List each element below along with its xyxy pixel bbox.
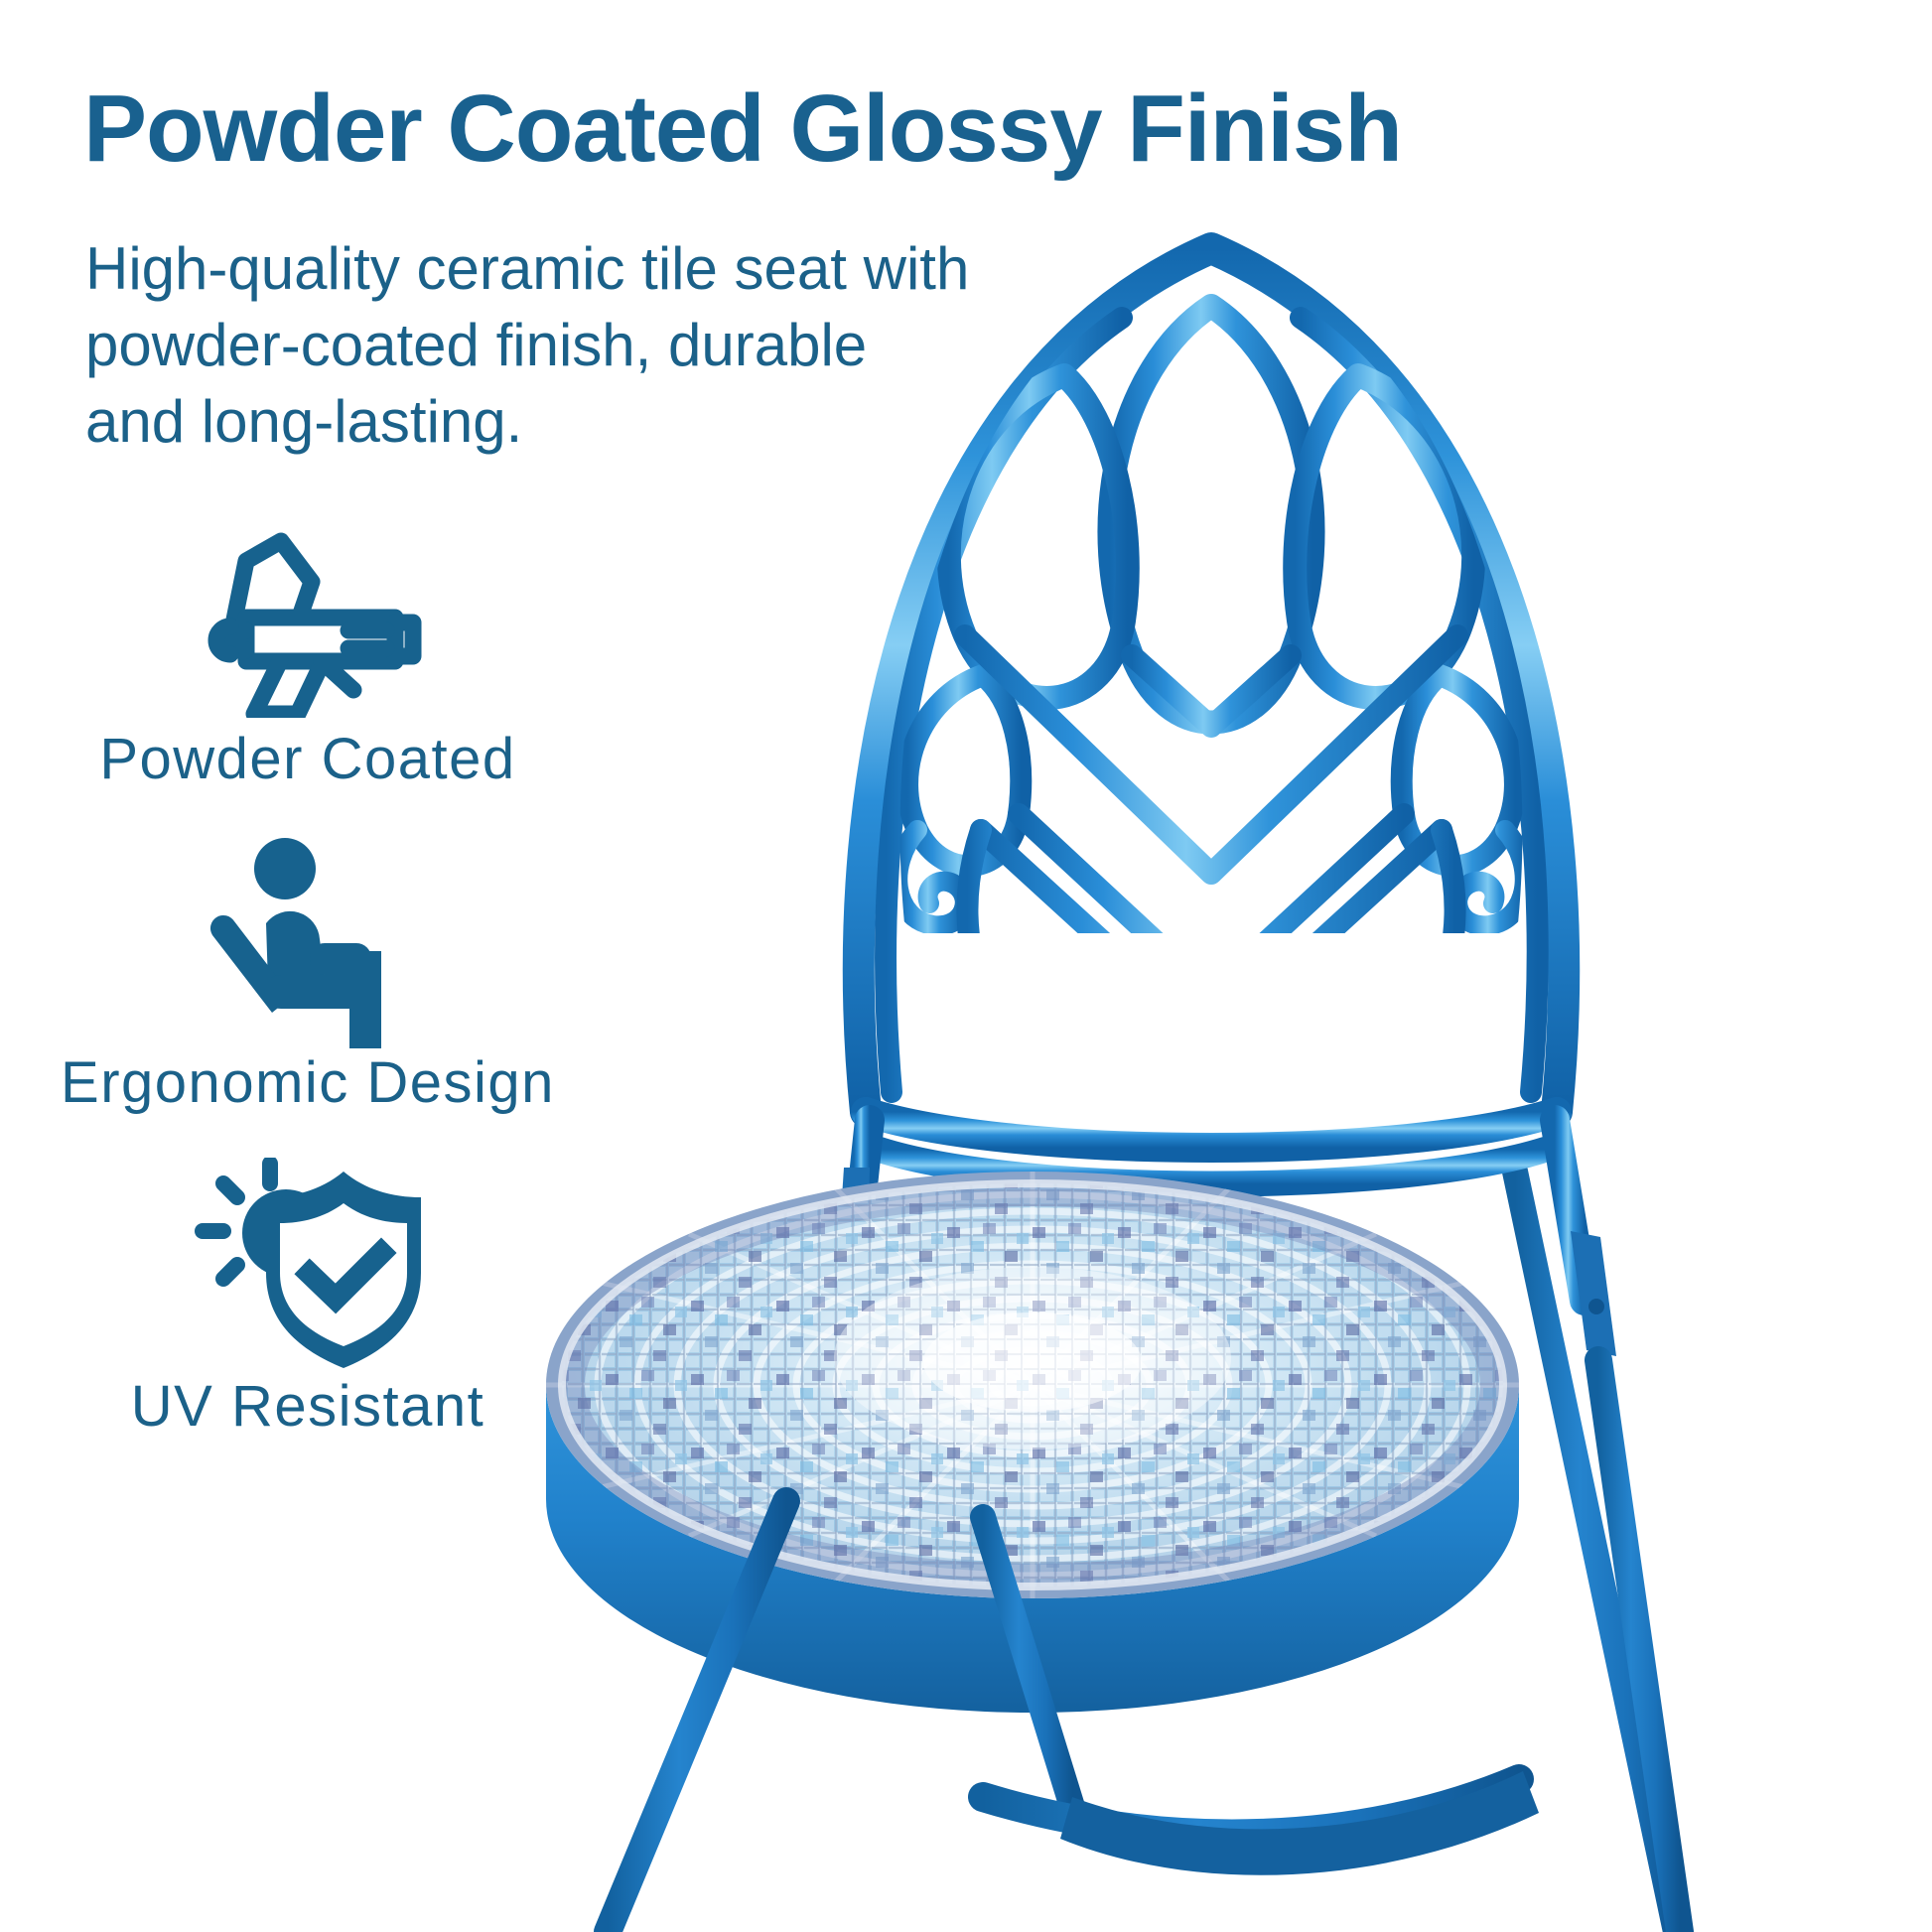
product-feature-infographic: Powder Coated Glossy Finish High-quality… [0,0,1932,1932]
chair-seat [546,1172,1519,1713]
chair-backrest-frame [859,248,1564,1184]
product-image [516,119,1932,1932]
